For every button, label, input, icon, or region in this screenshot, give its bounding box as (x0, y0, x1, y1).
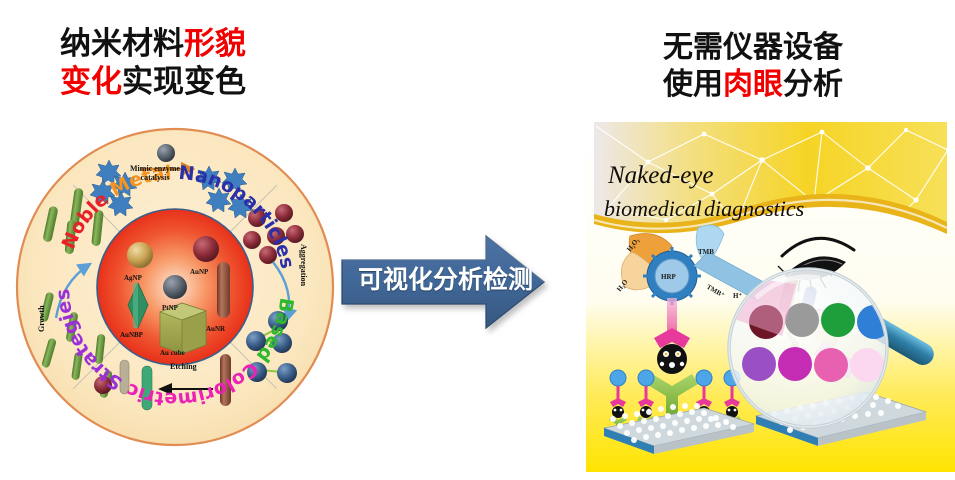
headline-left-line1-black: 纳米材料 (60, 26, 184, 62)
aunr-label: AuNR (206, 325, 225, 333)
diagnostics-title: diagnostics (704, 196, 804, 222)
headline-left-line2-black: 实现变色 (122, 64, 246, 100)
graphical-abstract-canvas: 纳米材料形貌 变化实现变色 无需仪器设备 使用肉眼分析 (0, 0, 955, 480)
headline-right: 无需仪器设备 使用肉眼分析 (663, 30, 843, 103)
nanoparticle-strategy-wheel: Noble Metal Nanoparticles Based Colorime… (10, 122, 340, 452)
arrow-label: 可视化分析检测 (358, 260, 518, 296)
aunp-sphere (193, 236, 219, 262)
ptnp-sphere (163, 275, 187, 299)
naked-eye-title: Naked-eye (608, 162, 713, 190)
aggregation-label: Aggregation (299, 244, 308, 286)
headline-right-line1-black: 无需仪器设备 (663, 30, 843, 65)
headline-left-line2-red: 变化 (60, 64, 122, 100)
headline-left-line1-red: 形貌 (184, 26, 246, 62)
h-plus-text: H⁺ (733, 292, 742, 300)
tmb-text: TMB (698, 248, 714, 256)
mimic-enzyme-label: Mimic enzyme catalysis (118, 164, 192, 182)
headline-right-line-1: 无需仪器设备 (663, 30, 843, 67)
headline-left-line-1: 纳米材料形貌 (60, 26, 246, 64)
aunr-rod (217, 262, 230, 318)
headline-right-line-2: 使用肉眼分析 (663, 67, 843, 104)
etching-label: Etching (170, 362, 197, 371)
biomedical-title: biomedical (604, 196, 702, 222)
magnifier-lens (729, 269, 887, 427)
ptnp-label: PtNP (162, 304, 178, 312)
headline-right-line2-black: 使用 (663, 67, 723, 102)
analyte-particle (657, 344, 687, 374)
headline-right-line2-tail: 分析 (783, 67, 843, 102)
agnp-label: AgNP (124, 274, 142, 282)
headline-left: 纳米材料形貌 变化实现变色 (60, 26, 246, 102)
aunbp-label: AuNBP (120, 331, 143, 339)
mimic-enzyme-label-line2: catalysis (141, 173, 170, 182)
mimic-enzyme-label-line1: Mimic enzyme (130, 164, 180, 173)
hrp-text: HRP (661, 273, 677, 281)
au-cube-label: Au cube (160, 349, 185, 357)
agnp-sphere (127, 242, 153, 268)
headline-left-line-2: 变化实现变色 (60, 64, 246, 102)
headline-right-line2-red: 肉眼 (723, 67, 783, 102)
naked-eye-diagnostics-panel: H₂O₂ H₂O HRP TMB TMB⁺ H⁺ TMB²⁺ AuNR (586, 116, 955, 472)
process-arrow: 可视化分析检测 (336, 232, 566, 337)
growth-label: Growth (37, 305, 46, 332)
aunp-label: AuNP (190, 268, 208, 276)
catalyst-sphere (157, 144, 175, 162)
